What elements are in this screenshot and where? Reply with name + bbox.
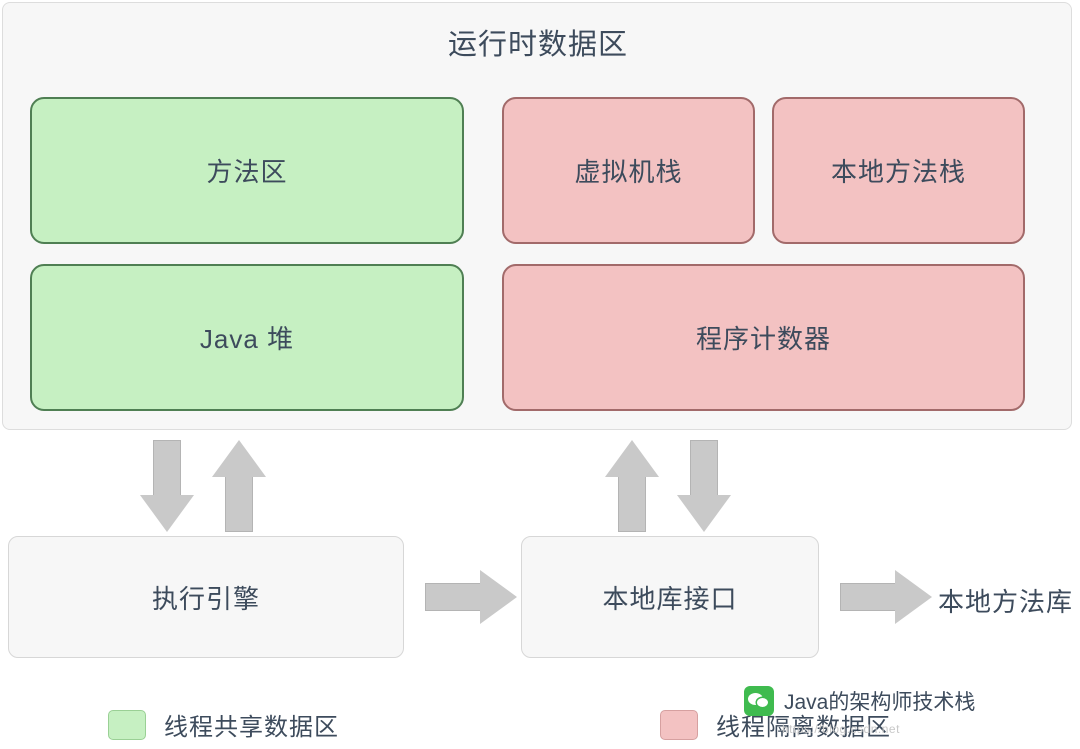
legend-label-shared: 线程共享数据区: [164, 707, 339, 742]
box-native-method-stack: 本地方法栈: [772, 97, 1025, 244]
arrow-shaft: [618, 476, 646, 532]
brand-badge: Java的架构师技术栈: [744, 686, 975, 716]
legend-swatch-shared-icon: [108, 710, 146, 740]
brand-name: Java的架构师技术栈: [784, 686, 975, 716]
box-program-counter-label: 程序计数器: [696, 319, 831, 356]
arrow-down-engine-to-runtime: [140, 440, 194, 532]
box-java-heap-label: Java 堆: [200, 319, 294, 356]
arrow-head: [480, 570, 517, 624]
watermark-text: https://blog.csdn.net: [782, 722, 900, 736]
arrow-right-native-interface-to-library: [840, 570, 932, 624]
box-execution-engine-label: 执行引擎: [152, 579, 260, 616]
box-execution-engine: 执行引擎: [8, 536, 404, 658]
box-vm-stack: 虚拟机栈: [502, 97, 755, 244]
arrow-up-runtime-to-native-interface: [605, 440, 659, 532]
legend-item-shared: 线程共享数据区: [108, 707, 339, 742]
diagram-canvas: 运行时数据区 方法区 虚拟机栈 本地方法栈 Java 堆 程序计数器 执行引擎: [0, 0, 1080, 749]
arrow-head: [605, 440, 659, 477]
arrow-head: [212, 440, 266, 477]
box-vm-stack-label: 虚拟机栈: [574, 152, 682, 189]
wechat-icon: [744, 686, 774, 716]
legend-swatch-isolated-icon: [660, 710, 698, 740]
arrow-down-native-interface-to-runtime: [677, 440, 731, 532]
arrow-head: [895, 570, 932, 624]
arrow-right-engine-to-native-interface: [425, 570, 517, 624]
arrow-shaft: [153, 440, 181, 496]
arrow-head: [140, 495, 194, 532]
label-native-library: 本地方法库: [938, 582, 1073, 619]
box-native-method-stack-label: 本地方法栈: [831, 152, 966, 189]
arrow-shaft: [690, 440, 718, 496]
arrow-shaft: [840, 583, 896, 611]
box-native-interface-label: 本地库接口: [602, 579, 737, 616]
runtime-data-area-title: 运行时数据区: [3, 21, 1073, 63]
arrow-shaft: [425, 583, 481, 611]
arrow-shaft: [225, 476, 253, 532]
box-method-area-label: 方法区: [206, 152, 287, 189]
box-program-counter: 程序计数器: [502, 264, 1025, 411]
arrow-up-runtime-to-engine: [212, 440, 266, 532]
box-native-interface: 本地库接口: [521, 536, 819, 658]
box-method-area: 方法区: [30, 97, 464, 244]
box-java-heap: Java 堆: [30, 264, 464, 411]
arrow-head: [677, 495, 731, 532]
